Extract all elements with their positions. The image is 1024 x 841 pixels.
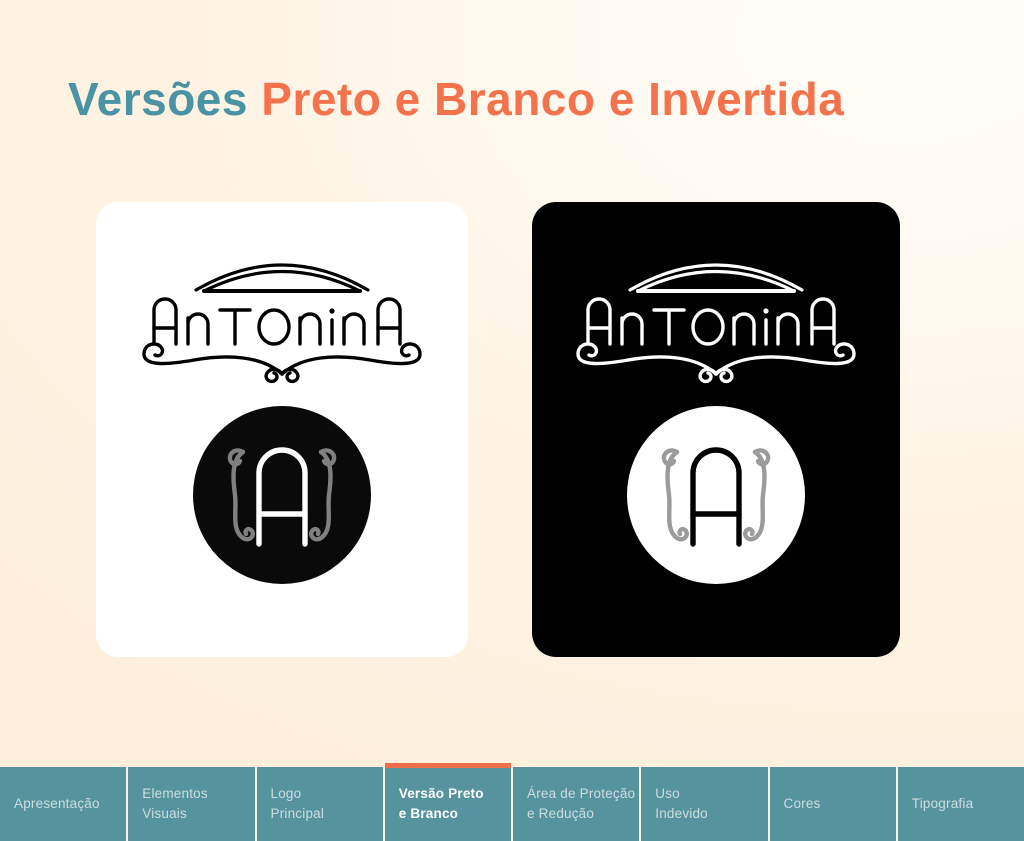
nav-item-label: Cores [784, 794, 821, 814]
active-tab-accent-bar [385, 763, 511, 768]
nav-item-logo-principal[interactable]: LogoPrincipal [257, 767, 385, 841]
nav-item-versao-preto-e-branco[interactable]: Versão Pretoe Branco [385, 767, 513, 841]
nav-item-elementos-visuais[interactable]: ElementosVisuais [128, 767, 256, 841]
nav-item-label: Área de Proteçãoe Redução [527, 784, 635, 825]
page-title-part-teal: Versões [68, 73, 261, 125]
nav-item-uso-indevido[interactable]: UsoIndevido [641, 767, 769, 841]
monogram-a-circle-inverted-icon [625, 404, 807, 586]
antonina-wordmark-lockup-icon [132, 244, 432, 392]
page-title-part-orange: Preto e Branco e Invertida [261, 73, 844, 125]
logo-lockup-dark [566, 244, 866, 392]
section-nav: Apresentação ElementosVisuais LogoPrinci… [0, 767, 1024, 841]
nav-item-label: UsoIndevido [655, 784, 708, 825]
nav-item-label: Versão Pretoe Branco [399, 784, 484, 825]
page-title: Versões Preto e Branco e Invertida [68, 74, 844, 125]
nav-item-label: Apresentação [14, 794, 100, 814]
nav-item-apresentacao[interactable]: Apresentação [0, 767, 128, 841]
nav-item-tipografia[interactable]: Tipografia [898, 767, 1024, 841]
monogram-dark [625, 404, 807, 586]
nav-item-area-de-protecao-e-reducao[interactable]: Área de Proteçãoe Redução [513, 767, 641, 841]
slide-canvas: Versões Preto e Branco e Invertida [0, 0, 1024, 841]
nav-item-cores[interactable]: Cores [770, 767, 898, 841]
monogram-light [191, 404, 373, 586]
logo-card-inverted [532, 202, 900, 657]
nav-item-label: Tipografia [912, 794, 974, 814]
nav-item-label: ElementosVisuais [142, 784, 208, 825]
logo-card-black-and-white [96, 202, 468, 657]
logo-lockup-light [132, 244, 432, 392]
monogram-a-circle-icon [191, 404, 373, 586]
nav-item-label: LogoPrincipal [271, 784, 325, 825]
antonina-wordmark-lockup-inverted-icon [566, 244, 866, 392]
